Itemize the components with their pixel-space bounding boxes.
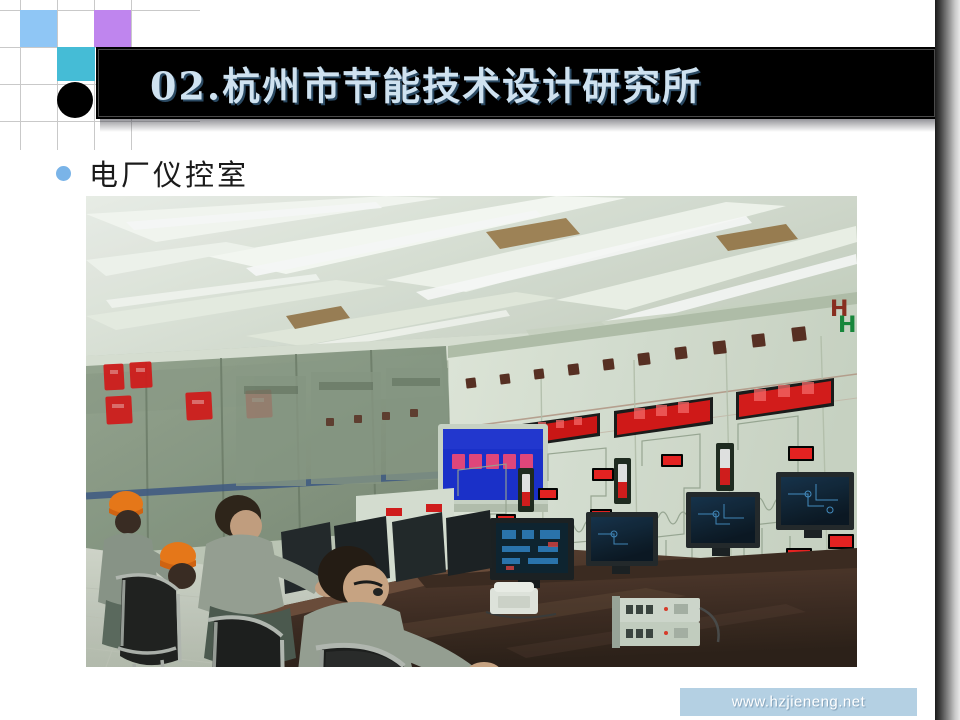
photo-artwork: H H [86,196,857,667]
decor-circle-black [57,82,93,118]
decor-square-teal [57,47,95,81]
decor-square-blue [20,10,57,47]
decor-square-purple [94,10,131,47]
right-edge-band [935,0,960,720]
slide-canvas: 02.杭州市节能技术设计研究所 电厂仪控室 [0,0,960,720]
footer-url-band: www.hzjieneng.net [680,688,917,716]
control-room-photo: H H [86,196,857,667]
bullet-dot-icon [56,166,71,181]
footer-url[interactable]: www.hzjieneng.net [732,694,866,711]
bullet-label: 电厂仪控室 [89,152,249,194]
title-bar-shadow [100,119,941,132]
page-title: 02.杭州市节能技术设计研究所 [150,56,702,111]
bullet-row: 电厂仪控室 [56,152,249,194]
title-bar: 02.杭州市节能技术设计研究所 [96,47,937,119]
